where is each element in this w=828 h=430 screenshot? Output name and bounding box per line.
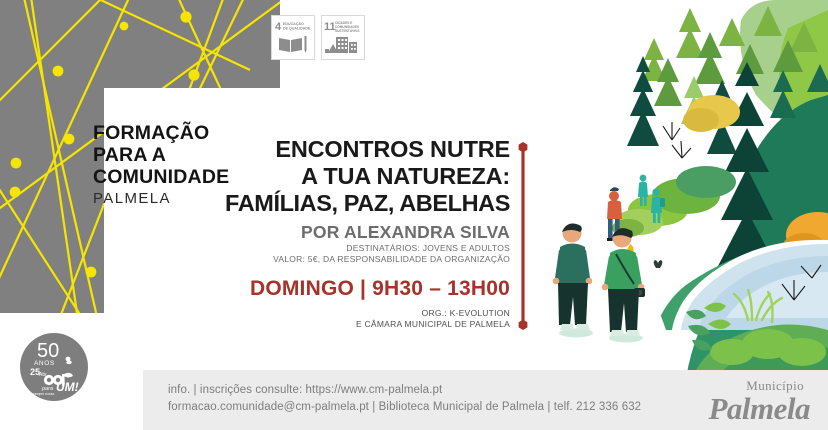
footer-bar: info. | inscrições consulte: https://www…: [143, 370, 828, 430]
event-title-line-2: A TUA NATUREZA:: [150, 163, 510, 190]
sdg-logos: 4 EDUCAÇÃO DE QUALIDADE 11 CIDADES E COM…: [271, 15, 365, 60]
footer-contact: info. | inscrições consulte: https://www…: [168, 382, 641, 416]
buildings-icon: 11 CIDADES E COMUNIDADES SUSTENTÁVEIS: [322, 16, 364, 59]
event-title-line-3: FAMÍLIAS, PAZ, ABELHAS: [150, 190, 510, 217]
footer-line-1[interactable]: info. | inscrições consulte: https://www…: [168, 382, 641, 399]
event-author: POR ALEXANDRA SILVA: [150, 221, 510, 243]
event-datetime: DOMINGO | 9H30 – 13H00: [150, 276, 510, 301]
grey-panel-top: [0, 0, 280, 88]
event-price: VALOR: 5€, DA RESPONSABILIDADE DA ORGANI…: [150, 254, 510, 265]
municipality-logo: Município Palmela: [670, 378, 810, 424]
svg-text:sempre nosso: sempre nosso: [33, 392, 54, 396]
event-org-line-1: ORG.: K-EVOLUTION: [150, 308, 510, 319]
svg-text:DE QUALIDADE: DE QUALIDADE: [283, 27, 311, 31]
svg-text:11: 11: [324, 21, 336, 33]
poster-canvas: FORMAÇÃO PARA A COMUNIDADE PALMELA 50 AN…: [0, 0, 828, 430]
svg-text:4: 4: [275, 21, 282, 33]
sdg-logo-11: 11 CIDADES E COMUNIDADES SUSTENTÁVEIS: [321, 15, 365, 60]
event-org-line-2: E CÂMARA MUNICIPAL DE PALMELA: [150, 319, 510, 330]
svg-text:SUSTENTÁVEIS: SUSTENTÁVEIS: [335, 28, 359, 33]
municipality-logo-main: Palmela: [670, 393, 810, 425]
footer-line-2[interactable]: formacao.comunidade@cm-palmela.pt | Bibl…: [168, 399, 641, 416]
forest-illustration: [536, 0, 828, 378]
open-book-icon: 4 EDUCAÇÃO DE QUALIDADE: [272, 16, 314, 59]
svg-text:50: 50: [37, 340, 59, 362]
anniversary-badge: 50 ANOS 25 Abr. para UM! sempre nosso: [20, 333, 88, 401]
forest-scene-graphic: [536, 0, 828, 378]
red-divider-bar: [518, 142, 528, 330]
svg-text:ANOS: ANOS: [34, 360, 55, 367]
sdg-logo-4: 4 EDUCAÇÃO DE QUALIDADE: [271, 15, 315, 60]
event-text-block: ENCONTROS NUTRE A TUA NATUREZA: FAMÍLIAS…: [150, 136, 510, 330]
anniversary-badge-icon: 50 ANOS 25 Abr. para UM! sempre nosso: [20, 333, 88, 401]
event-title-line-1: ENCONTROS NUTRE: [150, 136, 510, 163]
event-audience: DESTINATÁRIOS: JOVENS E ADULTOS: [150, 243, 510, 254]
event-title: ENCONTROS NUTRE A TUA NATUREZA: FAMÍLIAS…: [150, 136, 510, 217]
svg-text:UM!: UM!: [56, 380, 79, 394]
svg-text:EDUCAÇÃO: EDUCAÇÃO: [283, 21, 304, 26]
grey-panel-left: [0, 88, 104, 313]
